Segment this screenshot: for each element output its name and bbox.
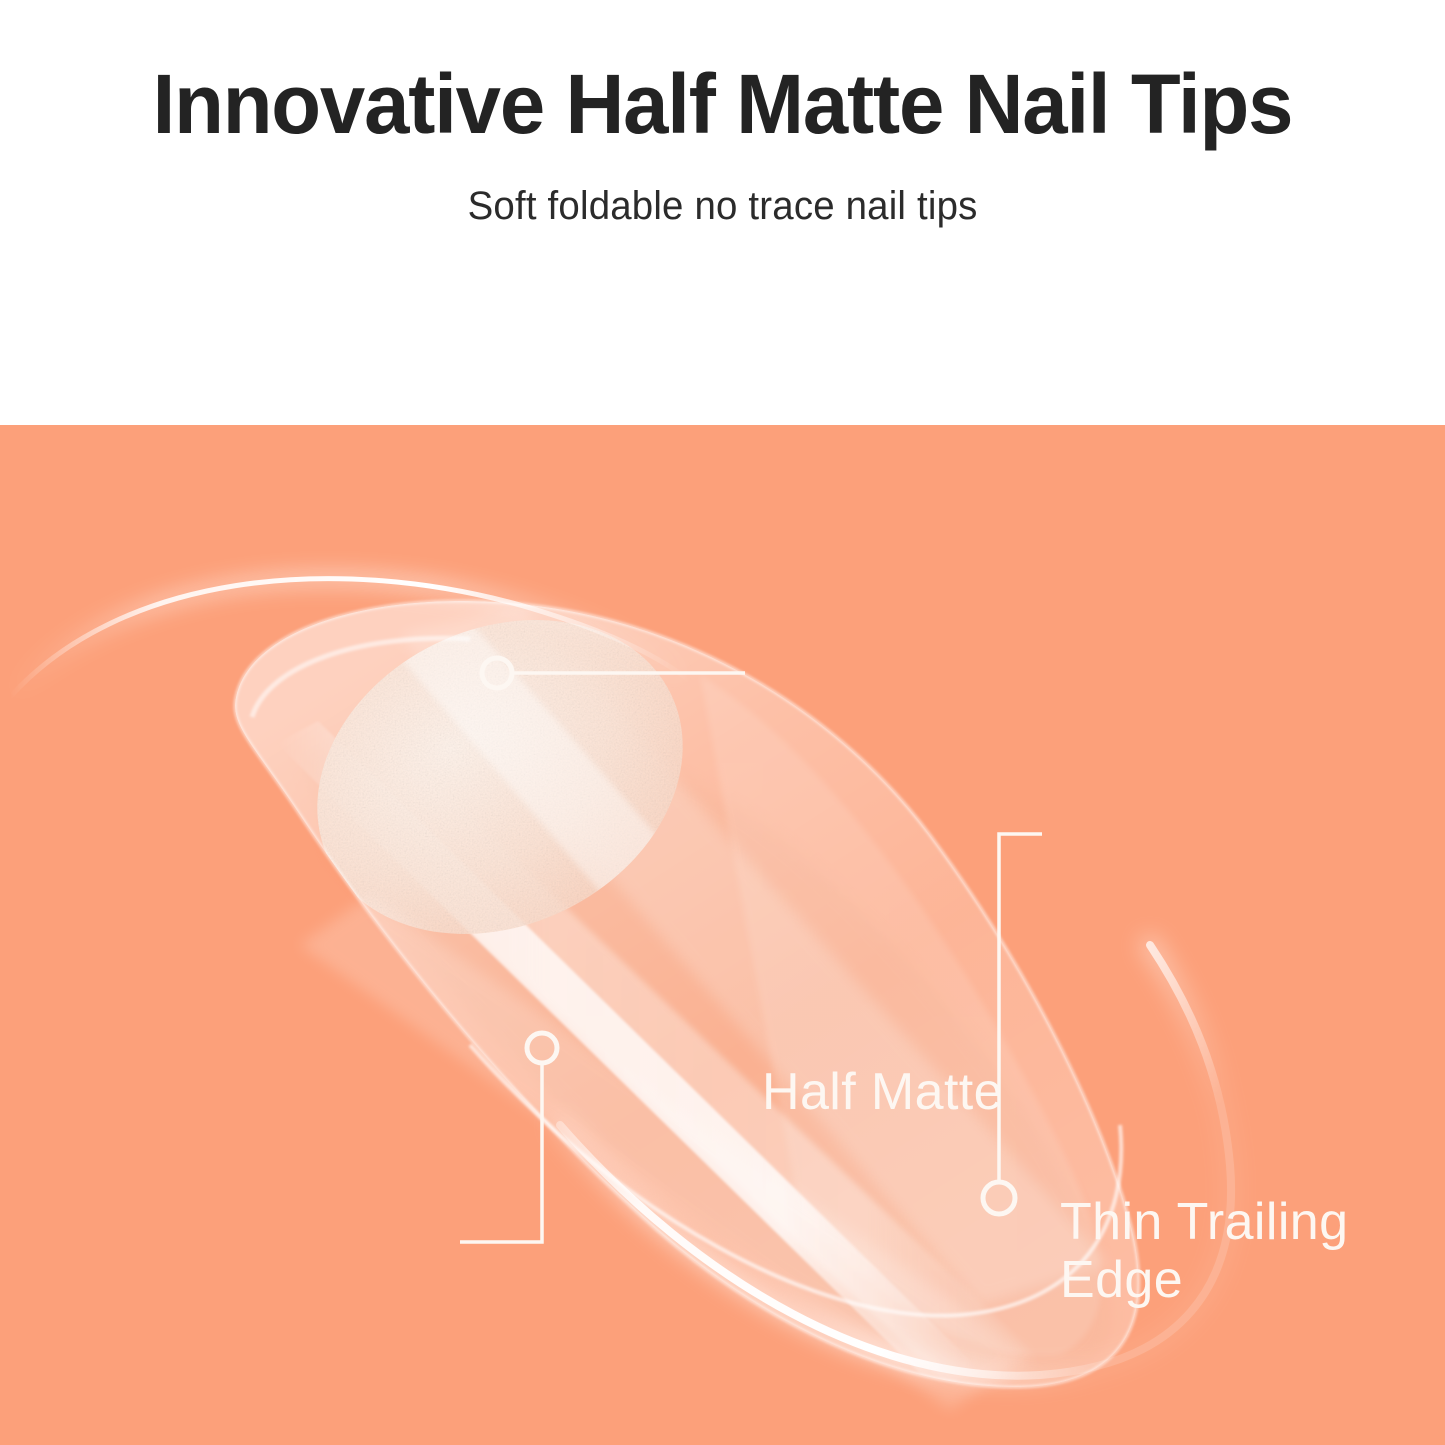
callout-label-thin-trailing-edge: Thin Trailing Edge bbox=[1060, 1193, 1348, 1309]
product-panel: Half Matte Thin Trailing Edge No Crease bbox=[0, 425, 1445, 1445]
header-section: Innovative Half Matte Nail Tips Soft fol… bbox=[0, 0, 1445, 425]
callout-label-half-matte: Half Matte bbox=[762, 1063, 1003, 1121]
page-title: Innovative Half Matte Nail Tips bbox=[153, 62, 1293, 148]
infographic-page: Innovative Half Matte Nail Tips Soft fol… bbox=[0, 0, 1445, 1445]
page-subtitle: Soft foldable no trace nail tips bbox=[468, 184, 978, 229]
